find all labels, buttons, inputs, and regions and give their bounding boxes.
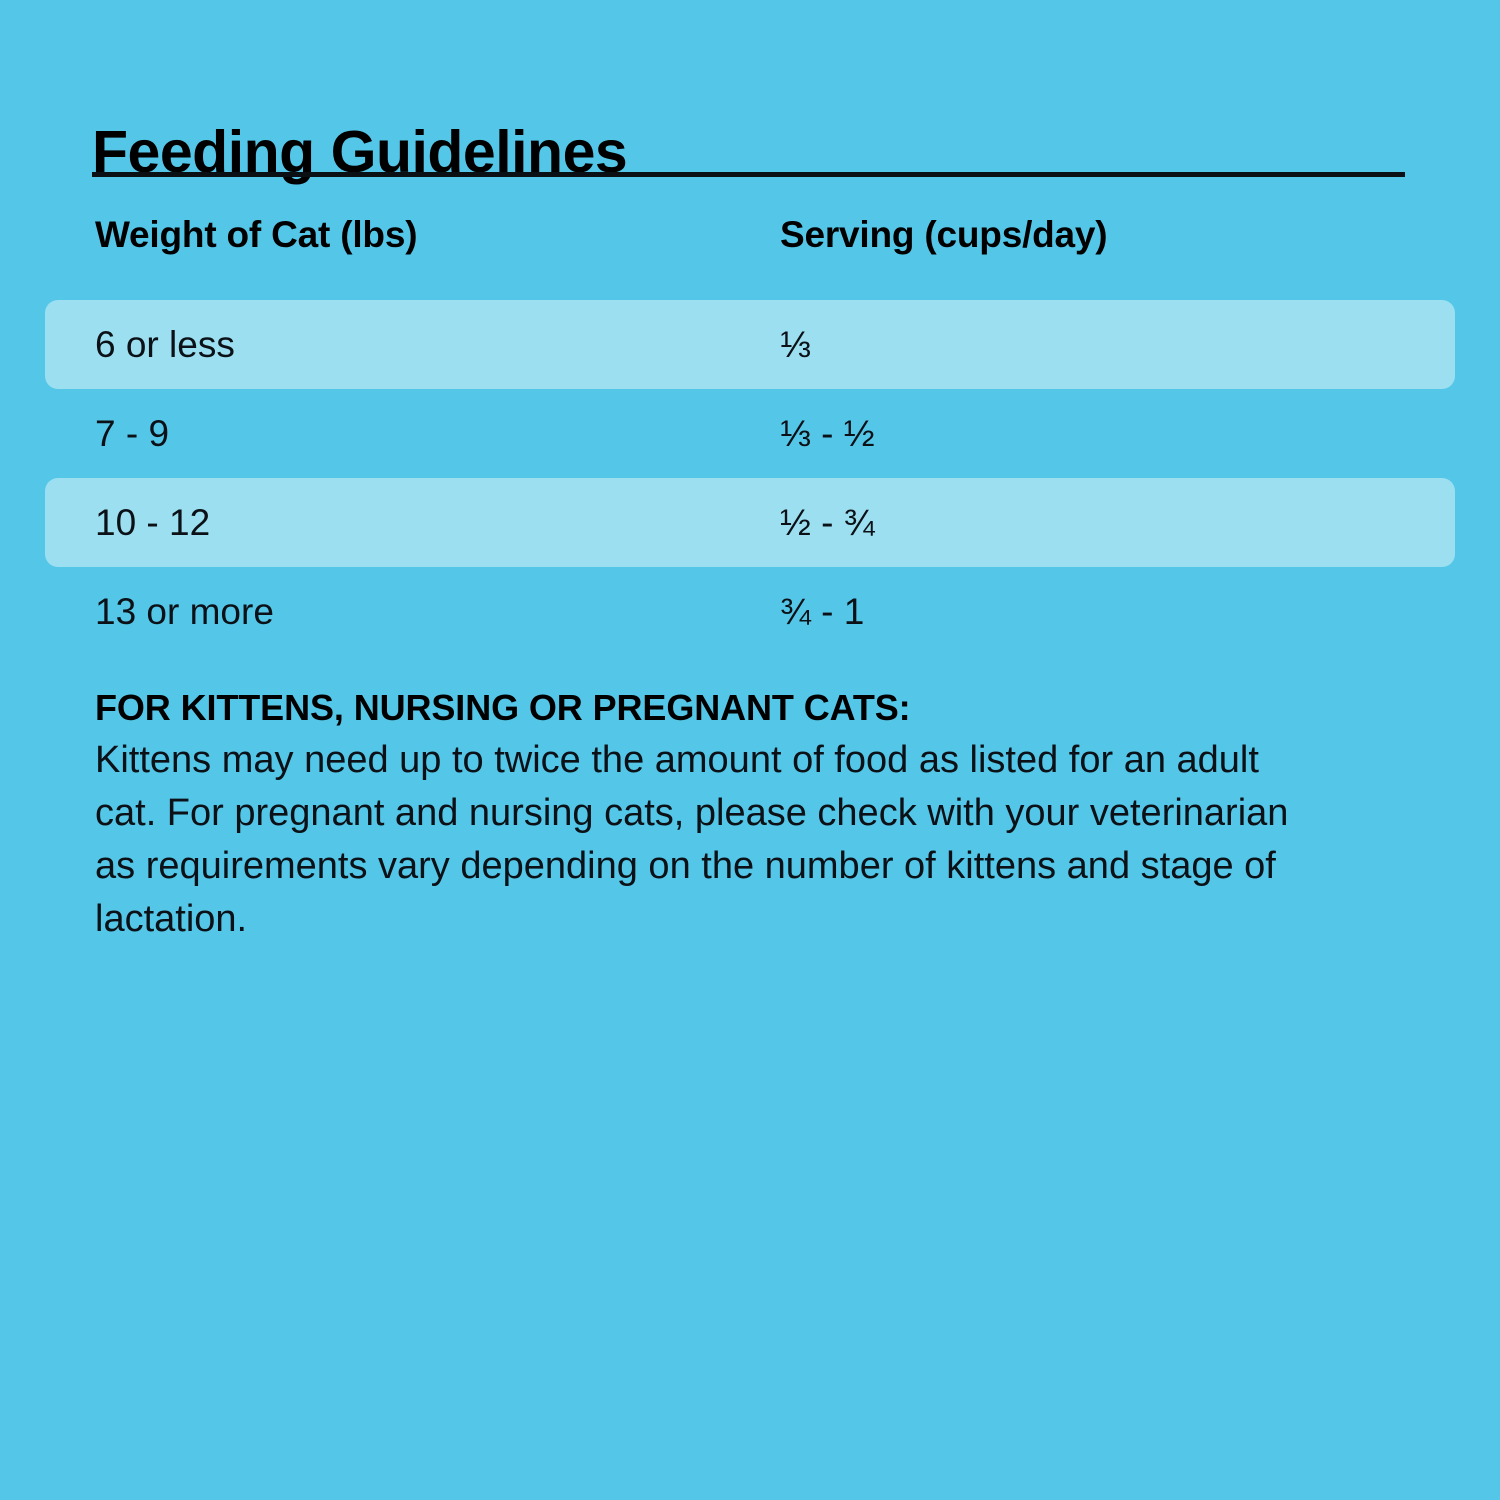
cell-weight: 13 or more bbox=[95, 591, 274, 633]
row-highlight-band bbox=[45, 300, 1455, 389]
kitten-note-heading: FOR KITTENS, NURSING OR PREGNANT CATS: bbox=[95, 686, 1335, 730]
row-highlight-band bbox=[45, 478, 1455, 567]
title-divider bbox=[92, 172, 1405, 177]
row-highlight-band bbox=[45, 389, 1455, 478]
cell-weight: 10 - 12 bbox=[95, 502, 210, 544]
table-row: 7 - 9 ⅓ - ½ bbox=[0, 389, 1500, 478]
table-header-row: Weight of Cat (lbs) Serving (cups/day) bbox=[0, 214, 1500, 300]
cell-serving: ¾ - 1 bbox=[780, 591, 864, 633]
column-header-serving: Serving (cups/day) bbox=[780, 214, 1107, 256]
column-header-weight: Weight of Cat (lbs) bbox=[95, 214, 417, 256]
feeding-guidelines-panel: Feeding Guidelines Weight of Cat (lbs) S… bbox=[0, 0, 1500, 1500]
kitten-note-body: Kittens may need up to twice the amount … bbox=[95, 734, 1310, 947]
table-body: 6 or less ⅓ 7 - 9 ⅓ - ½ 10 - 12 ½ - ¾ 13… bbox=[0, 300, 1500, 656]
cell-weight: 6 or less bbox=[95, 324, 235, 366]
kitten-note: FOR KITTENS, NURSING OR PREGNANT CATS: K… bbox=[95, 686, 1335, 947]
feeding-table: Weight of Cat (lbs) Serving (cups/day) 6… bbox=[0, 214, 1500, 656]
cell-serving: ⅓ bbox=[780, 324, 811, 366]
table-row: 10 - 12 ½ - ¾ bbox=[0, 478, 1500, 567]
table-row: 6 or less ⅓ bbox=[0, 300, 1500, 389]
cell-serving: ⅓ - ½ bbox=[780, 413, 875, 455]
cell-serving: ½ - ¾ bbox=[780, 502, 875, 544]
table-row: 13 or more ¾ - 1 bbox=[0, 567, 1500, 656]
cell-weight: 7 - 9 bbox=[95, 413, 169, 455]
